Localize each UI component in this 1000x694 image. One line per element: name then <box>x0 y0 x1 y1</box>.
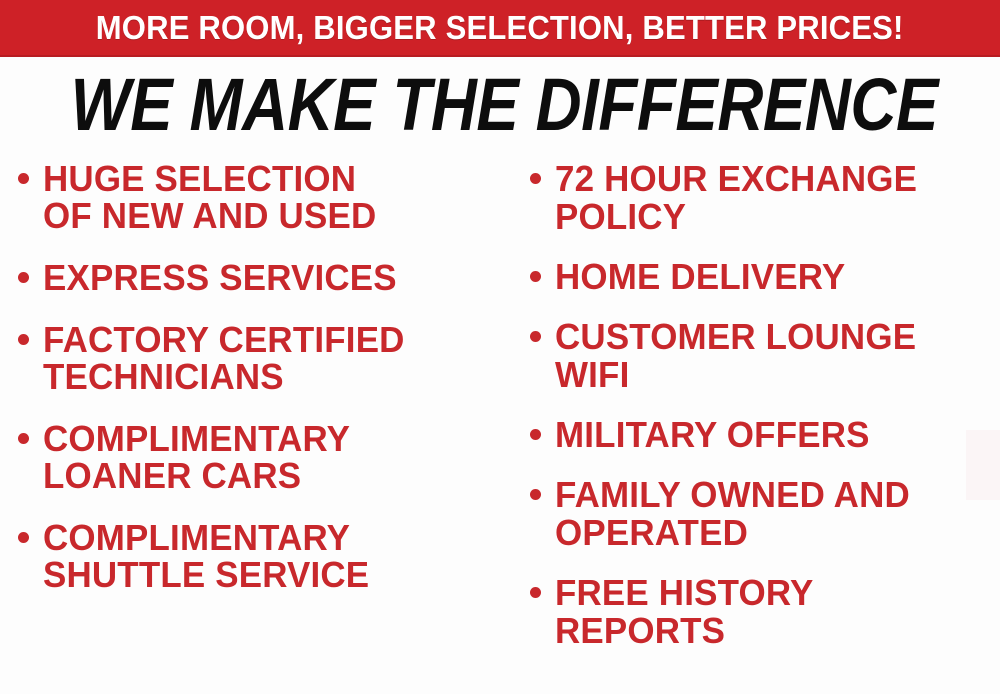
list-item-label: FACTORY CERTIFIED TECHNICIANS <box>43 321 496 395</box>
list-item-label: 72 HOUR EXCHANGE POLICY <box>555 160 987 236</box>
bullet-dot-icon <box>18 433 29 444</box>
top-banner-text: MORE ROOM, BIGGER SELECTION, BETTER PRIC… <box>96 11 904 44</box>
list-item-label: EXPRESS SERVICES <box>43 259 496 296</box>
list-item-label: CUSTOMER LOUNGE WIFI <box>555 318 987 394</box>
promotional-banner: { "colors": { "banner_red": "#ce2127", "… <box>0 0 1000 694</box>
list-item-label: COMPLIMENTARY LOANER CARS <box>43 420 496 494</box>
bullet-dot-icon <box>18 334 29 345</box>
list-item: CUSTOMER LOUNGE WIFI <box>530 318 1000 394</box>
list-item-label: HOME DELIVERY <box>555 258 987 296</box>
bullet-dot-icon <box>530 331 541 342</box>
bullet-dot-icon <box>18 173 29 184</box>
headline-text: WE MAKE THE DIFFERENCE <box>71 68 938 142</box>
headline: WE MAKE THE DIFFERENCE <box>0 68 1000 142</box>
benefits-columns: HUGE SELECTION OF NEW AND USED EXPRESS S… <box>0 160 1000 694</box>
bullet-dot-icon <box>530 489 541 500</box>
list-item: FACTORY CERTIFIED TECHNICIANS <box>18 321 510 395</box>
list-item: 72 HOUR EXCHANGE POLICY <box>530 160 1000 236</box>
list-item-label: HUGE SELECTION OF NEW AND USED <box>43 160 496 234</box>
top-banner: MORE ROOM, BIGGER SELECTION, BETTER PRIC… <box>0 0 1000 57</box>
list-item: COMPLIMENTARY SHUTTLE SERVICE <box>18 519 510 593</box>
list-item-label: MILITARY OFFERS <box>555 416 987 454</box>
bullet-dot-icon <box>530 173 541 184</box>
bullet-dot-icon <box>530 587 541 598</box>
bullet-dot-icon <box>530 429 541 440</box>
bullet-dot-icon <box>18 272 29 283</box>
bullet-dot-icon <box>530 271 541 282</box>
benefits-column-left: HUGE SELECTION OF NEW AND USED EXPRESS S… <box>0 160 510 694</box>
list-item: COMPLIMENTARY LOANER CARS <box>18 420 510 494</box>
list-item: FREE HISTORY REPORTS <box>530 574 1000 650</box>
list-item-label: FAMILY OWNED AND OPERATED <box>555 476 987 552</box>
benefits-column-right: 72 HOUR EXCHANGE POLICY HOME DELIVERY CU… <box>510 160 1000 694</box>
list-item: FAMILY OWNED AND OPERATED <box>530 476 1000 552</box>
list-item: HUGE SELECTION OF NEW AND USED <box>18 160 510 234</box>
list-item: MILITARY OFFERS <box>530 416 1000 454</box>
list-item-label: COMPLIMENTARY SHUTTLE SERVICE <box>43 519 496 593</box>
list-item: HOME DELIVERY <box>530 258 1000 296</box>
bullet-dot-icon <box>18 532 29 543</box>
list-item: EXPRESS SERVICES <box>18 259 510 296</box>
list-item-label: FREE HISTORY REPORTS <box>555 574 987 650</box>
